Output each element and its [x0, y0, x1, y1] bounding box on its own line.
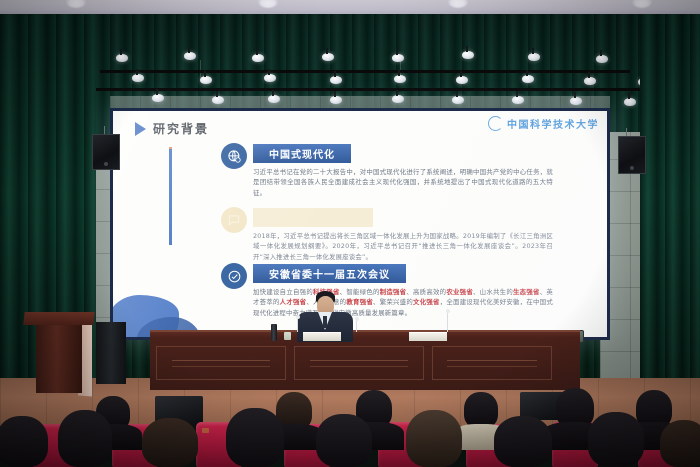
block-heading: 长三角一体化发展 — [253, 208, 373, 227]
projection-screen: 研究背景 中国科学技术大学 中国式现代化 习近平总书记在党的二十大报告中 — [110, 108, 610, 340]
av-equipment-rack — [96, 322, 126, 384]
play-triangle-icon — [135, 122, 146, 136]
slide-block-anhui-meeting: 安徽省委十一届五次会议 加快建设自立自强的科技强省、智能绿色的制造强省、高质高效… — [253, 263, 553, 318]
stage-lamp — [522, 75, 534, 83]
table-microphone — [297, 318, 298, 332]
left-wall-speaker — [92, 134, 120, 170]
podium-body — [36, 323, 82, 393]
slide-title-text: 研究背景 — [153, 120, 209, 137]
stage-lamp — [394, 75, 406, 83]
block-body-highlighted: 加快建设自立自强的科技强省、智能绿色的制造强省、高质高效的农业强省、山水共生的生… — [253, 287, 553, 318]
audience-head — [316, 414, 372, 467]
light-truss-front — [80, 88, 640, 91]
university-name: 中国科学技术大学 — [507, 116, 599, 131]
block-heading: 安徽省委十一届五次会议 — [253, 264, 406, 283]
thermos-flask — [271, 324, 277, 341]
name-plate — [409, 332, 447, 341]
stage-lamp — [184, 52, 196, 60]
stage-lamp — [212, 96, 224, 104]
logo-ring-icon — [488, 116, 503, 131]
audience-head — [142, 418, 198, 467]
stage-lamp — [264, 74, 276, 82]
stage-lamp — [116, 54, 128, 62]
slide-block-yangtze-delta: 长三角一体化发展 2018年，习近平总书记提出将长三角区域一体化发展上升为国家战… — [253, 207, 553, 262]
audience-head — [494, 416, 552, 467]
stage-lamp — [528, 53, 540, 61]
slide-surface: 研究背景 中国科学技术大学 中国式现代化 习近平总书记在党的二十大报告中 — [113, 111, 607, 337]
stage-lamp — [624, 98, 636, 106]
stage-lamp — [570, 97, 582, 105]
tea-cup — [284, 332, 291, 340]
stage-lamp — [596, 55, 608, 63]
right-stage-curtain — [640, 14, 700, 414]
table-microphone — [447, 312, 448, 332]
light-truss-rear — [100, 70, 630, 73]
podium-top — [23, 312, 94, 325]
audience-head — [226, 408, 284, 467]
stage-lamp — [152, 94, 164, 102]
clock-check-icon — [221, 263, 247, 289]
stage-lamp — [452, 96, 464, 104]
presenter-tie — [323, 316, 327, 328]
stage-lamp — [322, 53, 334, 61]
audience-head — [464, 392, 498, 428]
audience-head — [0, 416, 48, 467]
accent-vertical-bar — [169, 149, 172, 245]
stage-lamp — [462, 51, 474, 59]
stage-lamp — [132, 74, 144, 82]
conference-table — [150, 330, 580, 390]
ceiling — [0, 0, 700, 14]
stage-lamp — [200, 76, 212, 84]
stage-lamp — [512, 96, 524, 104]
globe-icon — [221, 143, 247, 169]
stage-lamp — [252, 54, 264, 62]
audience-head — [58, 410, 112, 467]
audience-head — [588, 412, 644, 467]
stage-lamp — [584, 77, 596, 85]
right-wall-speaker — [618, 136, 646, 174]
truss-wire — [200, 60, 201, 78]
stage-lamp — [330, 96, 342, 104]
block-body: 2018年，习近平总书记提出将长三角区域一体化发展上升为国家战略。2019年编制… — [253, 231, 553, 262]
audience-head — [406, 410, 462, 467]
table-panel — [156, 346, 286, 380]
name-plate — [303, 332, 341, 341]
auditorium-scene: 研究背景 中国科学技术大学 中国式现代化 习近平总书记在党的二十大报告中 — [0, 0, 700, 467]
stage-lamp — [392, 54, 404, 62]
university-logo: 中国科学技术大学 — [488, 116, 599, 131]
stage-lamp — [392, 95, 404, 103]
slide-block-modernization: 中国式现代化 习近平总书记在党的二十大报告中，对中国式现代化进行了系统阐述，明确… — [253, 143, 553, 198]
audience-head — [660, 420, 700, 467]
stage-lamp — [268, 95, 280, 103]
table-panel — [294, 346, 424, 380]
stage-lamp — [330, 76, 342, 84]
table-panel — [432, 346, 552, 380]
slide-title: 研究背景 — [135, 120, 209, 137]
chat-icon — [221, 207, 247, 233]
stage-lamp — [456, 76, 468, 84]
block-heading: 中国式现代化 — [253, 144, 351, 163]
table-microphone — [356, 320, 357, 332]
block-body: 习近平总书记在党的二十大报告中，对中国式现代化进行了系统阐述，明确中国共产党的中… — [253, 167, 553, 198]
